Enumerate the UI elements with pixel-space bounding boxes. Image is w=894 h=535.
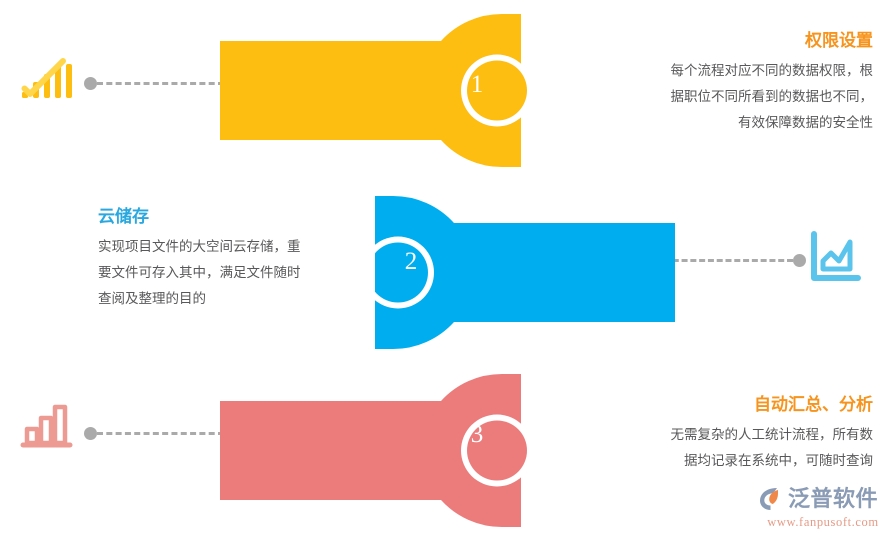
step-text-block-1: 权限设置 每个流程对应不同的数据权限，根 据职位不同所看到的数据也不同， 有效保…	[523, 28, 873, 136]
infographic-canvas: 1 权限设置 每个流程对应不同的数据权限，根 据职位不同所看到的数据也不同， 有…	[0, 0, 894, 535]
arrow-shape-step-3	[220, 368, 550, 533]
brand-logo-row: 泛普软件	[757, 484, 889, 514]
step-body-line: 查阅及整理的目的	[98, 286, 368, 312]
step-body-1: 每个流程对应不同的数据权限，根 据职位不同所看到的数据也不同， 有效保障数据的安…	[523, 58, 873, 136]
step-title-1: 权限设置	[523, 28, 873, 54]
step-body-line: 每个流程对应不同的数据权限，根	[523, 58, 873, 84]
step-body-line: 要文件可存入其中，满足文件随时	[98, 260, 368, 286]
step-title-3: 自动汇总、分析	[523, 392, 873, 418]
step-text-block-2: 云储存 实现项目文件的大空间云存储，重 要文件可存入其中，满足文件随时 查阅及整…	[98, 204, 368, 312]
bar-chart-icon	[18, 396, 76, 454]
connector-dot	[84, 77, 97, 90]
step-body-line: 实现项目文件的大空间云存储，重	[98, 234, 368, 260]
step-body-line: 无需复杂的人工统计流程，所有数	[523, 422, 873, 448]
step-body-line: 有效保障数据的安全性	[523, 110, 873, 136]
brand-logo: 泛普软件 www.fanpusoft.com	[757, 484, 889, 530]
connector-dot	[793, 254, 806, 267]
connector-dashed-line	[97, 82, 224, 85]
brand-logo-url: www.fanpusoft.com	[757, 515, 889, 530]
step-text-block-3: 自动汇总、分析 无需复杂的人工统计流程，所有数 据均记录在系统中，可随时查询	[523, 392, 873, 474]
line-chart-icon	[806, 228, 864, 286]
brand-logo-text: 泛普软件	[788, 485, 878, 513]
arrow-shape-step-2	[375, 190, 705, 355]
step-body-3: 无需复杂的人工统计流程，所有数 据均记录在系统中，可随时查询	[523, 422, 873, 474]
step-title-2: 云储存	[98, 204, 368, 230]
step-body-2: 实现项目文件的大空间云存储，重 要文件可存入其中，满足文件随时 查阅及整理的目的	[98, 234, 368, 312]
fanpu-swoosh-logo-icon	[757, 485, 785, 513]
growth-bar-chart-icon	[18, 52, 76, 110]
connector-dashed-line	[97, 432, 224, 435]
connector-step-1	[84, 76, 224, 90]
connector-dot	[84, 427, 97, 440]
connector-step-3	[84, 426, 224, 440]
step-body-line: 据均记录在系统中，可随时查询	[523, 448, 873, 474]
step-body-line: 据职位不同所看到的数据也不同，	[523, 84, 873, 110]
arrow-shape-step-1	[220, 8, 550, 173]
